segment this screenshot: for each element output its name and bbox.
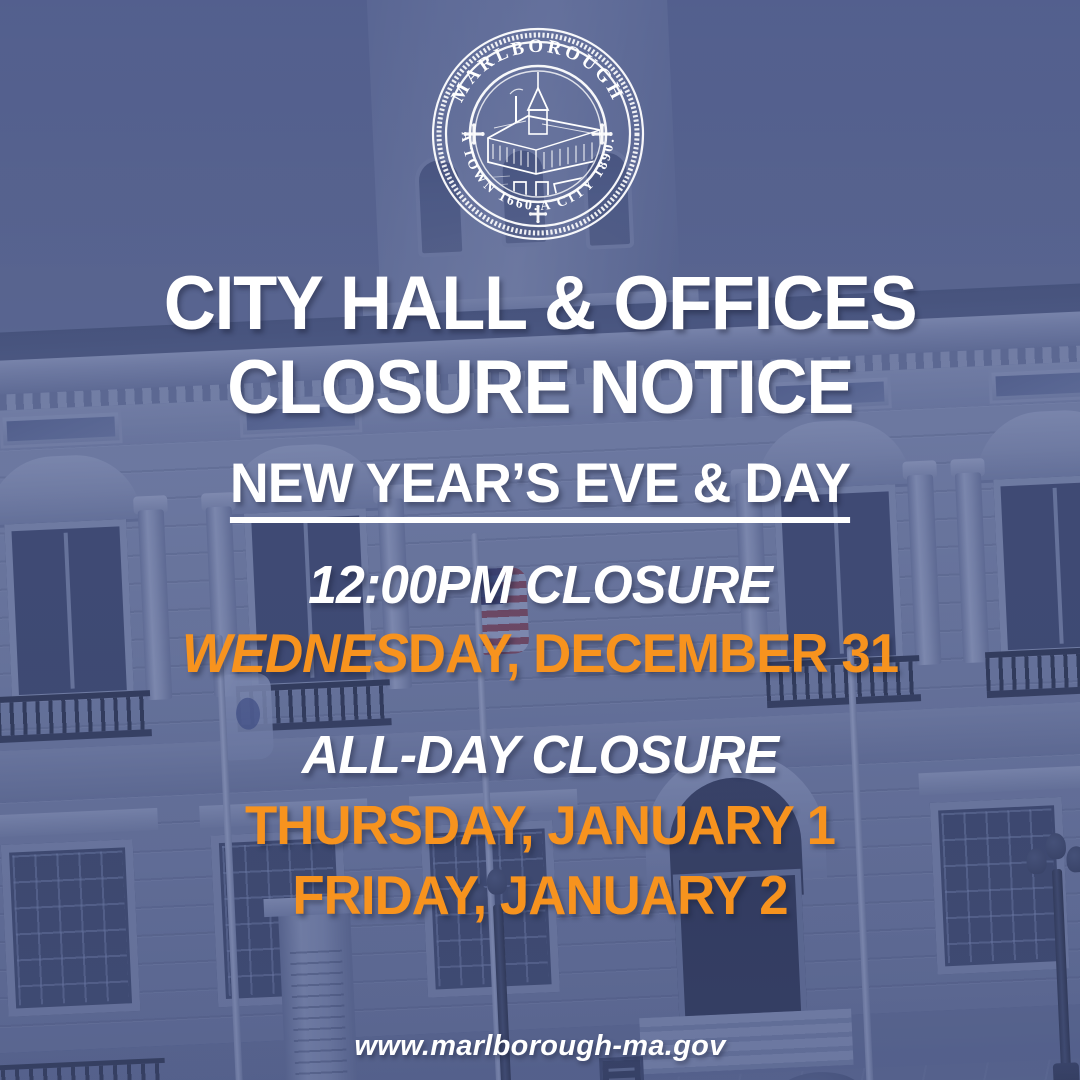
- closure-label-all-day: ALL-DAY CLOSURE: [22, 728, 1059, 782]
- website-footer[interactable]: www.marlborough-ma.gov: [0, 1030, 1080, 1063]
- closure-date-january-2: FRIDAY, JANUARY 2: [22, 868, 1059, 923]
- closure-label-midday: 12:00PM CLOSURE: [22, 558, 1059, 612]
- date-italic-segment: WEDNES: [182, 622, 408, 684]
- headline-line-2: CLOSURE NOTICE: [27, 350, 1053, 426]
- subheadline-text: NEW YEAR’S EVE & DAY: [230, 455, 850, 523]
- closure-date-january-1: THURSDAY, JANUARY 1: [22, 798, 1059, 853]
- date-upright-segment: DAY, DECEMBER 31: [408, 622, 898, 684]
- closure-notice-poster: MARLBOROUGH A TOWN 1660. A CITY 1890.: [0, 0, 1080, 1080]
- closure-date-december-31: WEDNESDAY, DECEMBER 31: [22, 626, 1059, 681]
- headline-line-1: CITY HALL & OFFICES: [27, 266, 1053, 342]
- poster-text-content: CITY HALL & OFFICES CLOSURE NOTICE NEW Y…: [0, 0, 1080, 1080]
- subheadline: NEW YEAR’S EVE & DAY: [22, 455, 1059, 523]
